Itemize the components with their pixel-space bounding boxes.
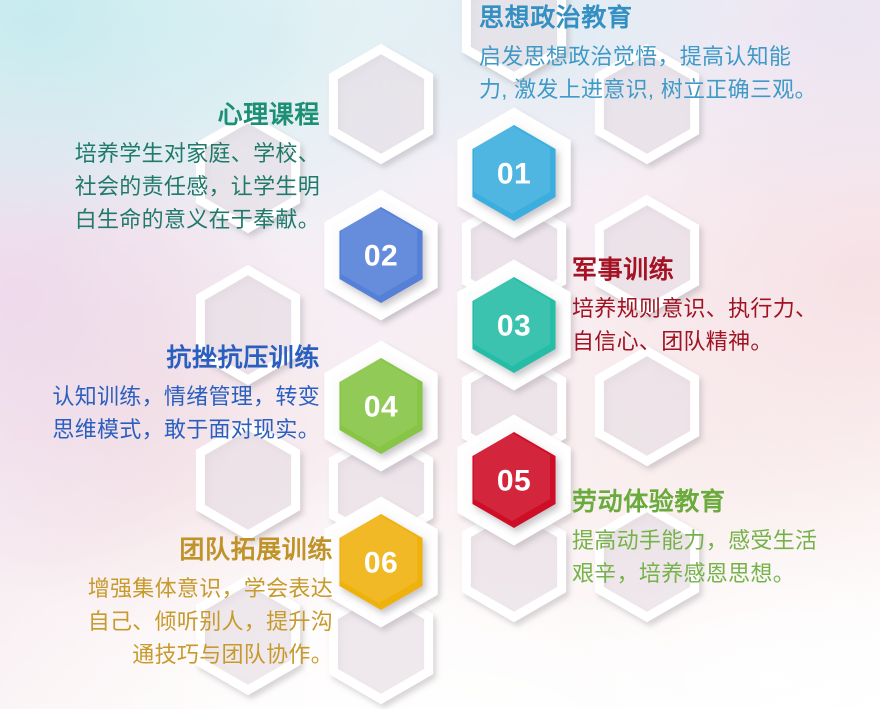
- item-body-04-line-1: 认知训练，情绪管理，转变: [52, 384, 320, 409]
- ghost-hexagon: [333, 49, 428, 159]
- item-block-04: 抗挫抗压训练 认知训练，情绪管理，转变 思维模式，敢于面对现实。: [20, 344, 320, 446]
- hexagon-number-01: 01: [497, 158, 531, 191]
- item-body-02-line-3: 白生命的意义在于奉献。: [75, 207, 320, 232]
- item-body-05: 提高动手能力，感受生活 艰辛，培养感恩思想。: [572, 524, 872, 591]
- item-body-04-line-2: 思维模式，敢于面对现实。: [52, 417, 320, 442]
- hexagon-number-05: 05: [497, 465, 531, 498]
- item-body-04: 认知训练，情绪管理，转变 思维模式，敢于面对现实。: [20, 380, 320, 447]
- item-body-02: 培养学生对家庭、学校、 社会的责任感，让学生明 白生命的意义在于奉献。: [20, 137, 320, 237]
- item-block-05: 劳动体验教育 提高动手能力，感受生活 艰辛，培养感恩思想。: [572, 488, 872, 590]
- item-body-06: 增强集体意识，学会表达 自己、倾听别人，提升沟 通技巧与团队协作。: [20, 572, 333, 672]
- item-body-03: 培养规则意识、执行力、 自信心、团队精神。: [572, 292, 872, 359]
- item-body-01-line-2: 力, 激发上进意识, 树立正确三观。: [479, 77, 817, 102]
- item-block-06: 团队拓展训练 增强集体意识，学会表达 自己、倾听别人，提升沟 通技巧与团队协作。: [20, 536, 333, 672]
- item-title-02: 心理课程: [20, 101, 320, 131]
- hexagon-number-04: 04: [364, 391, 398, 424]
- hexagon-number-06: 06: [364, 547, 398, 580]
- item-body-06-line-3: 通技巧与团队协作。: [132, 642, 333, 667]
- item-body-02-line-1: 培养学生对家庭、学校、: [75, 141, 320, 166]
- item-title-01: 思想政治教育: [479, 4, 851, 34]
- item-body-02-line-2: 社会的责任感，让学生明: [75, 174, 320, 199]
- item-body-06-line-1: 增强集体意识，学会表达: [88, 576, 333, 601]
- item-block-03: 军事训练 培养规则意识、执行力、 自信心、团队精神。: [572, 256, 872, 358]
- item-body-05-line-1: 提高动手能力，感受生活: [572, 528, 817, 553]
- item-title-06: 团队拓展训练: [20, 536, 333, 566]
- item-block-01: 思想政治教育 启发思想政治觉悟，提高认知能 力, 激发上进意识, 树立正确三观。: [479, 4, 851, 106]
- infographic-canvas: 010203040506 思想政治教育 启发思想政治觉悟，提高认知能 力, 激发…: [0, 0, 880, 709]
- item-body-01-line-1: 启发思想政治觉悟，提高认知能: [479, 44, 791, 69]
- item-body-03-line-1: 培养规则意识、执行力、: [572, 296, 817, 321]
- item-body-06-line-2: 自己、倾听别人，提升沟: [88, 609, 333, 634]
- hexagon-number-03: 03: [497, 310, 531, 343]
- item-title-05: 劳动体验教育: [572, 488, 872, 518]
- item-block-02: 心理课程 培养学生对家庭、学校、 社会的责任感，让学生明 白生命的意义在于奉献。: [20, 101, 320, 237]
- item-title-04: 抗挫抗压训练: [20, 344, 320, 374]
- hexagon-number-02: 02: [364, 240, 398, 273]
- ghost-hexagon: [599, 351, 694, 461]
- item-title-03: 军事训练: [572, 256, 872, 286]
- item-body-01: 启发思想政治觉悟，提高认知能 力, 激发上进意识, 树立正确三观。: [479, 40, 851, 107]
- item-body-05-line-2: 艰辛，培养感恩思想。: [572, 561, 795, 586]
- item-body-03-line-2: 自信心、团队精神。: [572, 329, 773, 354]
